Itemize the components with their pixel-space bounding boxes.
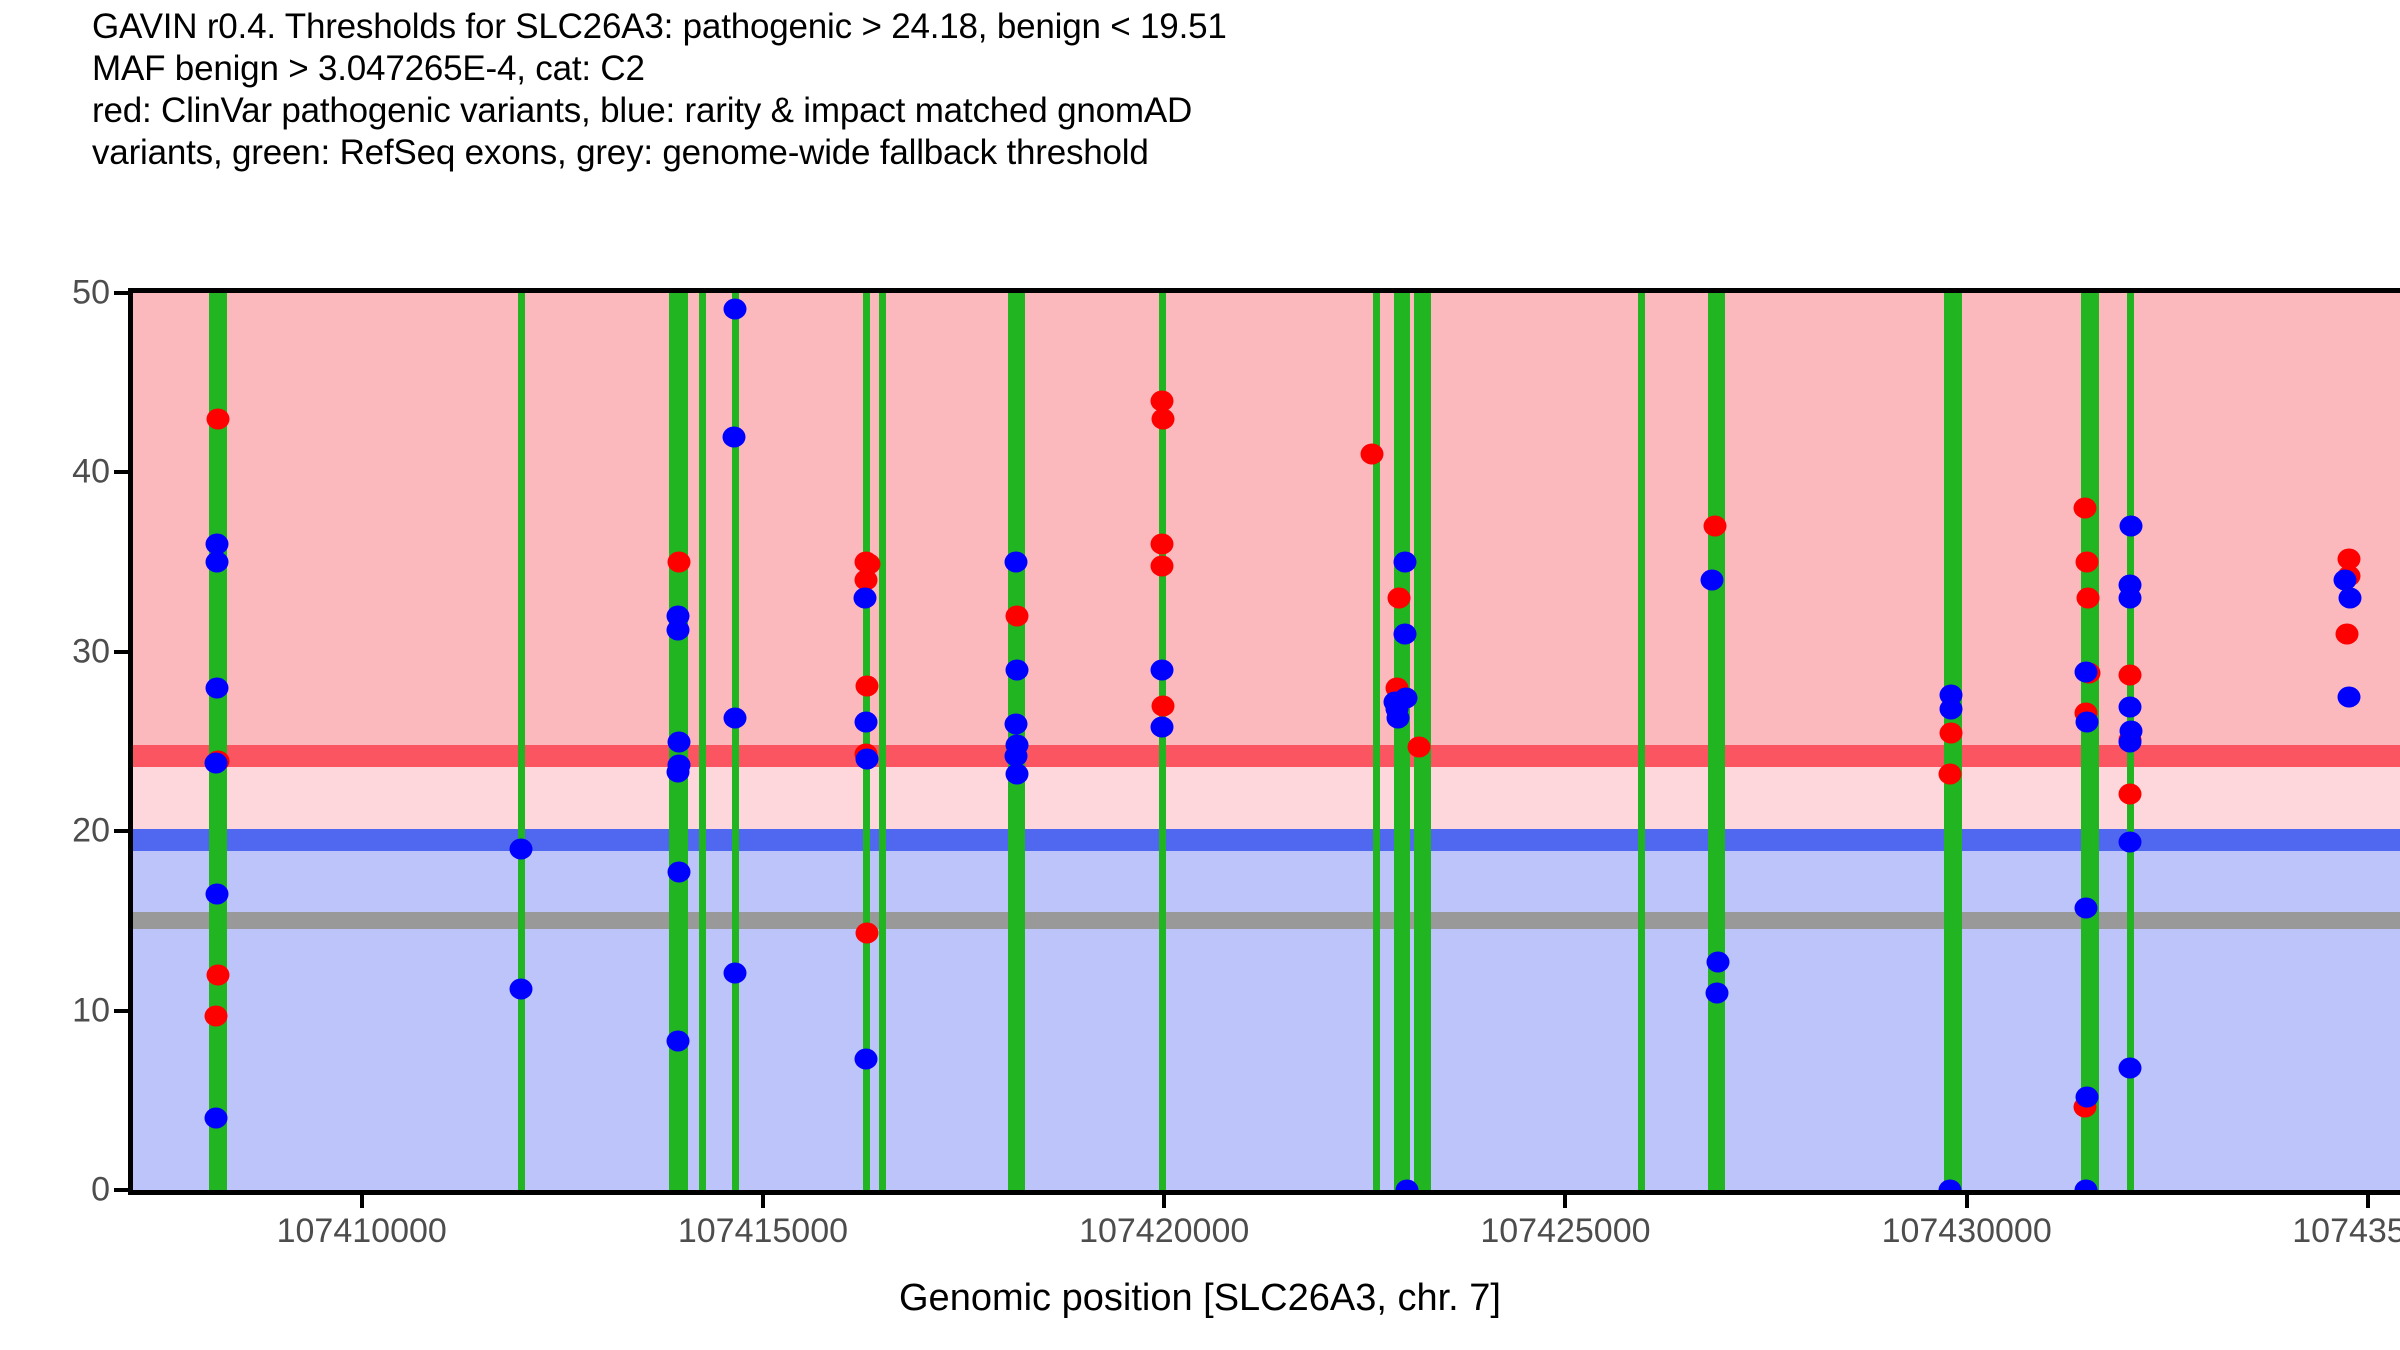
gnomad-variant-point [1393,623,1416,644]
gnomad-variant-point [2337,686,2360,707]
gnomad-variant-point [1706,982,1729,1003]
gnomad-variant-point [666,620,689,641]
gnomad-variant-point [206,677,229,698]
gnomad-variant-point [1393,552,1416,573]
title-line-4: variants, green: RefSeq exons, grey: gen… [92,132,2372,174]
gnomad-variant-point [1394,688,1417,709]
plot-top-border [133,288,2400,293]
gnomad-variant-point [1150,717,1173,738]
gnomad-variant-point [2120,516,2143,537]
gnomad-variant-point [2076,1086,2099,1107]
gnomad-variant-point [1706,952,1729,973]
gnomad-variant-point [667,731,690,752]
y-tick-label: 40 [0,453,110,492]
chart-title-block: GAVIN r0.4. Thresholds for SLC26A3: path… [92,6,2372,174]
x-tick-label: 107410000 [277,1212,447,1251]
y-tick-mark [114,1188,130,1192]
y-tick-label: 30 [0,632,110,671]
gnomad-variant-point [2076,711,2099,732]
clinvar-variant-point [1939,722,1962,743]
y-tick-mark [114,1009,130,1013]
clinvar-variant-point [1150,555,1173,576]
clinvar-variant-point [2336,623,2359,644]
exon-bar [1394,293,1410,1190]
clinvar-variant-point [2118,665,2141,686]
gnomad-variant-point [723,426,746,447]
gnomad-variant-point [853,587,876,608]
gnomad-variant-point [2119,731,2142,752]
title-line-1: GAVIN r0.4. Thresholds for SLC26A3: path… [92,6,2372,48]
title-line-3: red: ClinVar pathogenic variants, blue: … [92,90,2372,132]
gnomad-variant-point [2075,898,2098,919]
gnomad-variant-point [856,749,879,770]
inconclusive-band [133,756,2400,840]
gnomad-variant-point [2119,831,2142,852]
clinvar-variant-point [2074,498,2097,519]
gnomad-variant-point [205,753,228,774]
plot-panel [133,293,2400,1190]
clinvar-variant-point [1361,444,1384,465]
gnomad-variant-point [1005,659,1028,680]
pathogenic-threshold-line [133,745,2400,767]
y-axis-label: CADD scaled C-score [0,369,9,741]
gnomad-variant-point [206,883,229,904]
clinvar-variant-point [1151,408,1174,429]
plot-bottom-border [133,1190,2400,1195]
x-axis-label: Genomic position [SLC26A3, chr. 7] [0,1277,2400,1320]
y-tick-label: 20 [0,812,110,851]
y-tick-mark [114,291,130,295]
x-tick-label: 107415000 [678,1212,848,1251]
y-tick-label: 10 [0,991,110,1030]
gnomad-variant-point [2119,697,2142,718]
clinvar-variant-point [207,408,230,429]
clinvar-variant-point [1704,516,1727,537]
gnomad-variant-point [2119,1058,2142,1079]
gnomad-variant-point [1150,659,1173,680]
gnomad-variant-point [666,1031,689,1052]
exon-bar [1638,293,1645,1190]
title-line-2: MAF benign > 3.047265E-4, cat: C2 [92,48,2372,90]
x-tick-label: 107430000 [1882,1212,2052,1251]
benign-threshold-line [133,829,2400,851]
gnomad-variant-point [2075,661,2098,682]
clinvar-variant-point [205,1005,228,1026]
x-tick-label: 10743500 [2292,1212,2400,1251]
chart-root: GAVIN r0.4. Thresholds for SLC26A3: path… [0,0,2400,1350]
x-tick-label: 107425000 [1480,1212,1650,1251]
gnomad-variant-point [1005,763,1028,784]
gnomad-variant-point [1939,699,1962,720]
clinvar-variant-point [1408,736,1431,757]
exon-bar [1708,293,1725,1190]
plot-canvas [133,293,2400,1190]
clinvar-variant-point [2076,552,2099,573]
exon-bar [2081,293,2099,1190]
y-tick-mark [114,470,130,474]
y-tick-mark [114,829,130,833]
clinvar-variant-point [1151,695,1174,716]
benign-band [133,840,2400,1190]
clinvar-variant-point [1150,534,1173,555]
gnomad-variant-point [1004,552,1027,573]
y-tick-mark [114,650,130,654]
x-tick-label: 107420000 [1079,1212,1249,1251]
clinvar-variant-point [667,552,690,573]
clinvar-variant-point [2119,783,2142,804]
gnomad-variant-point [723,708,746,729]
clinvar-variant-point [856,923,879,944]
exon-bar [879,293,886,1190]
exon-bar [699,293,706,1190]
gnomad-variant-point [855,1049,878,1070]
y-tick-label: 0 [0,1171,110,1210]
gnomad-variant-point [723,299,746,320]
gnomad-variant-point [667,862,690,883]
gnomad-variant-point [206,552,229,573]
gnomad-variant-point [205,1108,228,1129]
gnomad-variant-point [666,761,689,782]
clinvar-variant-point [2076,587,2099,608]
gnomad-variant-point [2119,587,2142,608]
fallback-threshold-line [133,912,2400,929]
gnomad-variant-point [1701,570,1724,591]
gnomad-variant-point [1386,708,1409,729]
gnomad-variant-point [723,962,746,983]
clinvar-variant-point [1938,763,1961,784]
gnomad-variant-point [2339,587,2362,608]
clinvar-variant-point [1388,587,1411,608]
clinvar-variant-point [207,964,230,985]
gnomad-variant-point [509,839,532,860]
clinvar-variant-point [1005,605,1028,626]
y-tick-label: 50 [0,274,110,313]
gnomad-variant-point [509,979,532,1000]
exon-bar [518,293,525,1190]
gnomad-variant-point [1004,713,1027,734]
gnomad-variant-point [854,711,877,732]
exon-bar [1373,293,1380,1190]
pathogenic-band [133,293,2400,756]
clinvar-variant-point [856,675,879,696]
